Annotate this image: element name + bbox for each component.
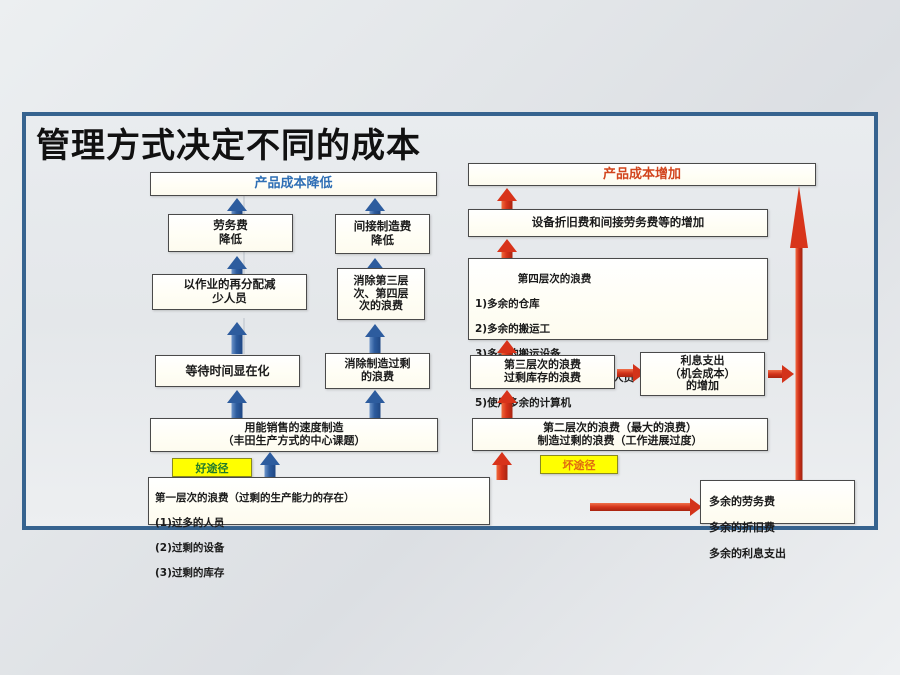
arrow-head xyxy=(365,324,385,337)
first-level-waste-item: (2)过剩的设备 xyxy=(155,542,224,554)
box-cost-up: 产品成本增加 xyxy=(468,163,816,186)
arrow-head xyxy=(227,390,247,403)
box-waiting-time-visible: 等待时间显在化 xyxy=(155,355,300,387)
fourth-level-waste-item: 2)多余的搬运工 xyxy=(475,323,550,335)
box-fourth-level-waste: 第四层次的浪费 1)多余的仓库 2)多余的搬运工 3)多余的搬运设备 4)多余的… xyxy=(468,258,768,340)
fourth-level-waste-title: 第四层次的浪费 xyxy=(475,273,634,285)
first-level-waste-item: (3)过剩的库存 xyxy=(155,567,224,579)
box-produce-at-sellable-speed: 用能销售的速度制造 （丰田生产方式的中心课题） xyxy=(150,418,438,452)
arrow-head xyxy=(790,186,808,248)
box-first-level-waste: 第一层次的浪费（过剩的生产能力的存在） (1)过多的人员 (2)过剩的设备 (3… xyxy=(148,477,490,525)
arrow-head xyxy=(497,390,517,403)
arrow-head xyxy=(497,340,517,353)
arrow-head xyxy=(365,390,385,403)
arrow-head xyxy=(497,188,517,201)
first-level-waste-title: 第一层次的浪费（过剩的生产能力的存在） xyxy=(155,492,355,504)
box-eliminate-overproduction-waste: 消除制造过剩 的浪费 xyxy=(325,353,430,389)
arrow-tall-excess-to-cost-up xyxy=(790,186,808,480)
arrow-right-to-excess-costs xyxy=(590,498,702,516)
arrow-up-second-to-third-level xyxy=(495,390,519,418)
arrow-shaft xyxy=(796,240,803,480)
arrow-head xyxy=(227,198,247,211)
fourth-level-waste-item: 1)多余的仓库 xyxy=(475,298,540,310)
arrow-shaft xyxy=(590,503,690,511)
arrow-head xyxy=(227,322,247,335)
arrow-shaft xyxy=(232,402,243,418)
slide-canvas: 管理方式决定不同的成本 产品成本降低 劳务费 降低 间接制造费 降低 以作业的再… xyxy=(0,0,900,675)
page-title: 管理方式决定不同的成本 xyxy=(36,118,421,167)
arrow-head xyxy=(497,239,517,252)
arrow-head xyxy=(365,198,385,211)
tag-bad-path: 坏途径 xyxy=(540,455,618,474)
box-cost-down: 产品成本降低 xyxy=(150,172,437,196)
excess-cost-item: 多余的劳务费 xyxy=(709,495,775,508)
excess-cost-item: 多余的折旧费 xyxy=(709,521,775,534)
arrow-up-eliminate-overproduction xyxy=(363,324,387,354)
arrow-up-produce-left xyxy=(225,390,249,418)
arrow-shaft xyxy=(370,402,381,418)
box-indirect-manufacturing-down: 间接制造费 降低 xyxy=(335,214,430,254)
tag-good-path: 好途径 xyxy=(172,458,252,477)
fourth-level-waste-item: 5)使用多余的计算机 xyxy=(475,397,571,409)
box-eliminate-3rd-4th-waste: 消除第三层 次、第四层 次的浪费 xyxy=(337,268,425,320)
box-second-level-waste: 第二层次的浪费（最大的浪费） 制造过剩的浪费（工作进展过度） xyxy=(472,418,768,451)
arrow-shaft xyxy=(497,464,508,480)
arrow-head xyxy=(227,256,247,269)
arrow-up-waiting-time xyxy=(225,322,249,354)
first-level-waste-item: (1)过多的人员 xyxy=(155,517,224,529)
box-reassign-work-reduce-staff: 以作业的再分配减 少人员 xyxy=(152,274,307,310)
box-excess-costs: 多余的劳务费 多余的折旧费 多余的利息支出 xyxy=(700,480,855,524)
arrow-shaft xyxy=(502,402,513,418)
box-interest-expense: 利息支出 （机会成本） 的增加 xyxy=(640,352,765,396)
arrow-shaft xyxy=(232,334,243,354)
arrow-head xyxy=(492,452,512,465)
excess-cost-item: 多余的利息支出 xyxy=(709,547,786,560)
box-third-level-waste: 第三层次的浪费 过剩库存的浪费 xyxy=(470,355,615,389)
arrow-shaft xyxy=(370,336,381,354)
arrow-up-produce-right xyxy=(363,390,387,418)
box-depreciation-indirect-labor-increase: 设备折旧费和间接劳务费等的增加 xyxy=(468,209,768,237)
box-labor-cost-down: 劳务费 降低 xyxy=(168,214,293,252)
arrow-head xyxy=(260,452,280,465)
arrow-up-first-to-second-level xyxy=(490,452,514,480)
